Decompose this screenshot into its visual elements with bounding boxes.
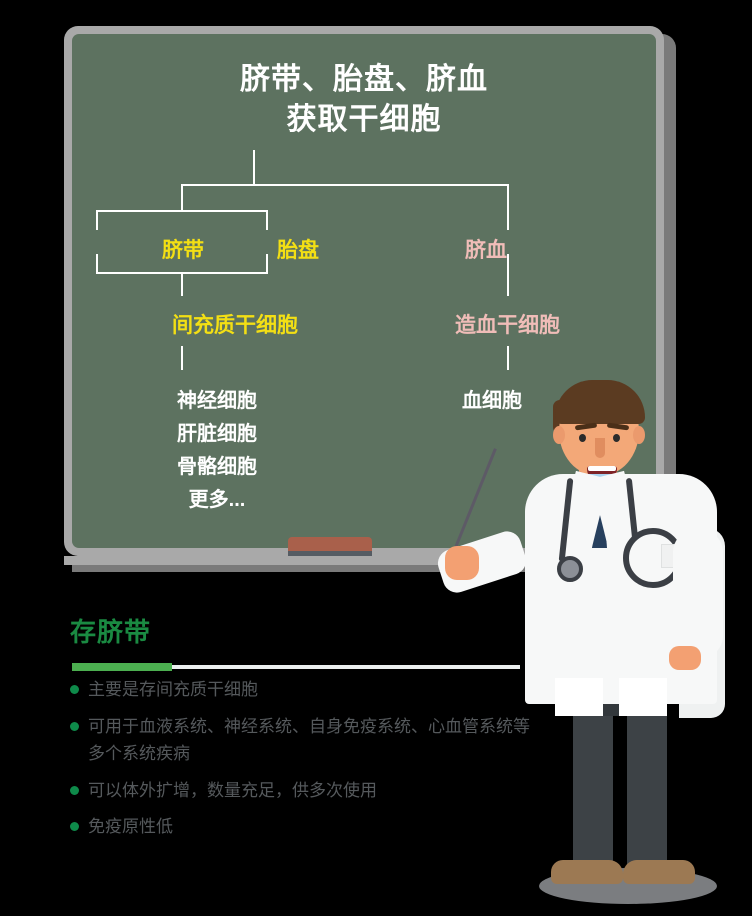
node-cord-blood: 脐血	[465, 234, 507, 264]
left-leg	[573, 698, 613, 870]
connector-mesenchymal-to-leaves	[181, 346, 183, 370]
list-item-text: 可用于血液系统、神经系统、自身免疫系统、心血管系统等多个系统疾病	[88, 717, 530, 764]
connector-sub-left-drop	[96, 210, 98, 230]
left-ear	[553, 426, 565, 444]
hair	[555, 380, 645, 424]
list-item-text: 主要是存间充质干细胞	[88, 680, 258, 699]
connector-hematopoietic-to-leaves	[507, 346, 509, 370]
connector-join-right-rise	[266, 254, 268, 274]
board-title-line-1: 脐带、胎盘、脐血	[72, 60, 656, 100]
coat-right-pocket	[619, 678, 667, 716]
connector-main-bar	[181, 184, 509, 186]
bullet-dot-icon	[70, 685, 79, 694]
divider-green-segment	[72, 663, 172, 671]
list-item-text: 可以体外扩增，数量充足，供多次使用	[88, 781, 377, 800]
list-item: 可用于血液系统、神经系统、自身免疫系统、心血管系统等多个系统疾病	[70, 713, 540, 768]
right-eye	[613, 434, 620, 442]
list-item: 免疫原性低	[70, 813, 540, 841]
board-title-line-2: 获取干细胞	[72, 100, 656, 140]
connector-sub-right-drop	[266, 210, 268, 230]
coat-left-pocket	[555, 678, 603, 716]
doctor-illustration	[487, 378, 752, 916]
right-arm	[673, 530, 723, 658]
right-ear	[633, 426, 645, 444]
connector-join-left-rise	[96, 254, 98, 274]
connector-to-hematopoietic	[507, 254, 509, 296]
list-item: 可以体外扩增，数量充足，供多次使用	[70, 777, 540, 805]
bullet-dot-icon	[70, 822, 79, 831]
right-hand	[669, 646, 701, 670]
connector-title-stem	[253, 150, 255, 186]
stethoscope-bell-icon	[557, 556, 583, 582]
node-placenta: 胎盘	[277, 234, 319, 264]
board-title: 脐带、胎盘、脐血 获取干细胞	[72, 60, 656, 139]
node-hematopoietic-stem-cell: 造血干细胞	[455, 309, 560, 339]
teeth	[588, 466, 616, 471]
list-item: 主要是存间充质干细胞	[70, 676, 540, 704]
eraser-base	[288, 551, 372, 556]
list-item-text: 免疫原性低	[88, 817, 173, 836]
leaf-liver-cell: 肝脏细胞	[72, 417, 362, 446]
node-mesenchymal-stem-cell: 间充质干细胞	[172, 309, 298, 339]
left-hand-holding-pointer	[445, 546, 479, 580]
node-umbilical-cord: 脐带	[162, 234, 204, 264]
benefits-list: 主要是存间充质干细胞 可用于血液系统、神经系统、自身免疫系统、心血管系统等多个系…	[70, 676, 540, 850]
section-heading: 存脐带	[70, 612, 151, 649]
leaf-neural-cell: 神经细胞	[72, 384, 362, 413]
nose	[595, 438, 605, 458]
divider-white-segment	[172, 665, 520, 669]
left-eye	[579, 434, 586, 442]
connector-sub-bar	[96, 210, 268, 212]
right-leg	[627, 698, 667, 870]
connector-main-right-drop	[507, 184, 509, 230]
right-shoe	[623, 860, 695, 884]
leaf-bone-cell: 骨骼细胞	[72, 450, 362, 479]
connector-to-mesenchymal	[181, 272, 183, 296]
leaf-more: 更多...	[72, 483, 362, 512]
connector-main-left-drop	[181, 184, 183, 212]
bullet-dot-icon	[70, 722, 79, 731]
infographic-canvas: 脐带、胎盘、脐血 获取干细胞 脐带 胎盘 脐血 间充质干细胞 造血干细胞 神经细…	[0, 0, 752, 916]
bullet-dot-icon	[70, 786, 79, 795]
left-shoe	[551, 860, 623, 884]
